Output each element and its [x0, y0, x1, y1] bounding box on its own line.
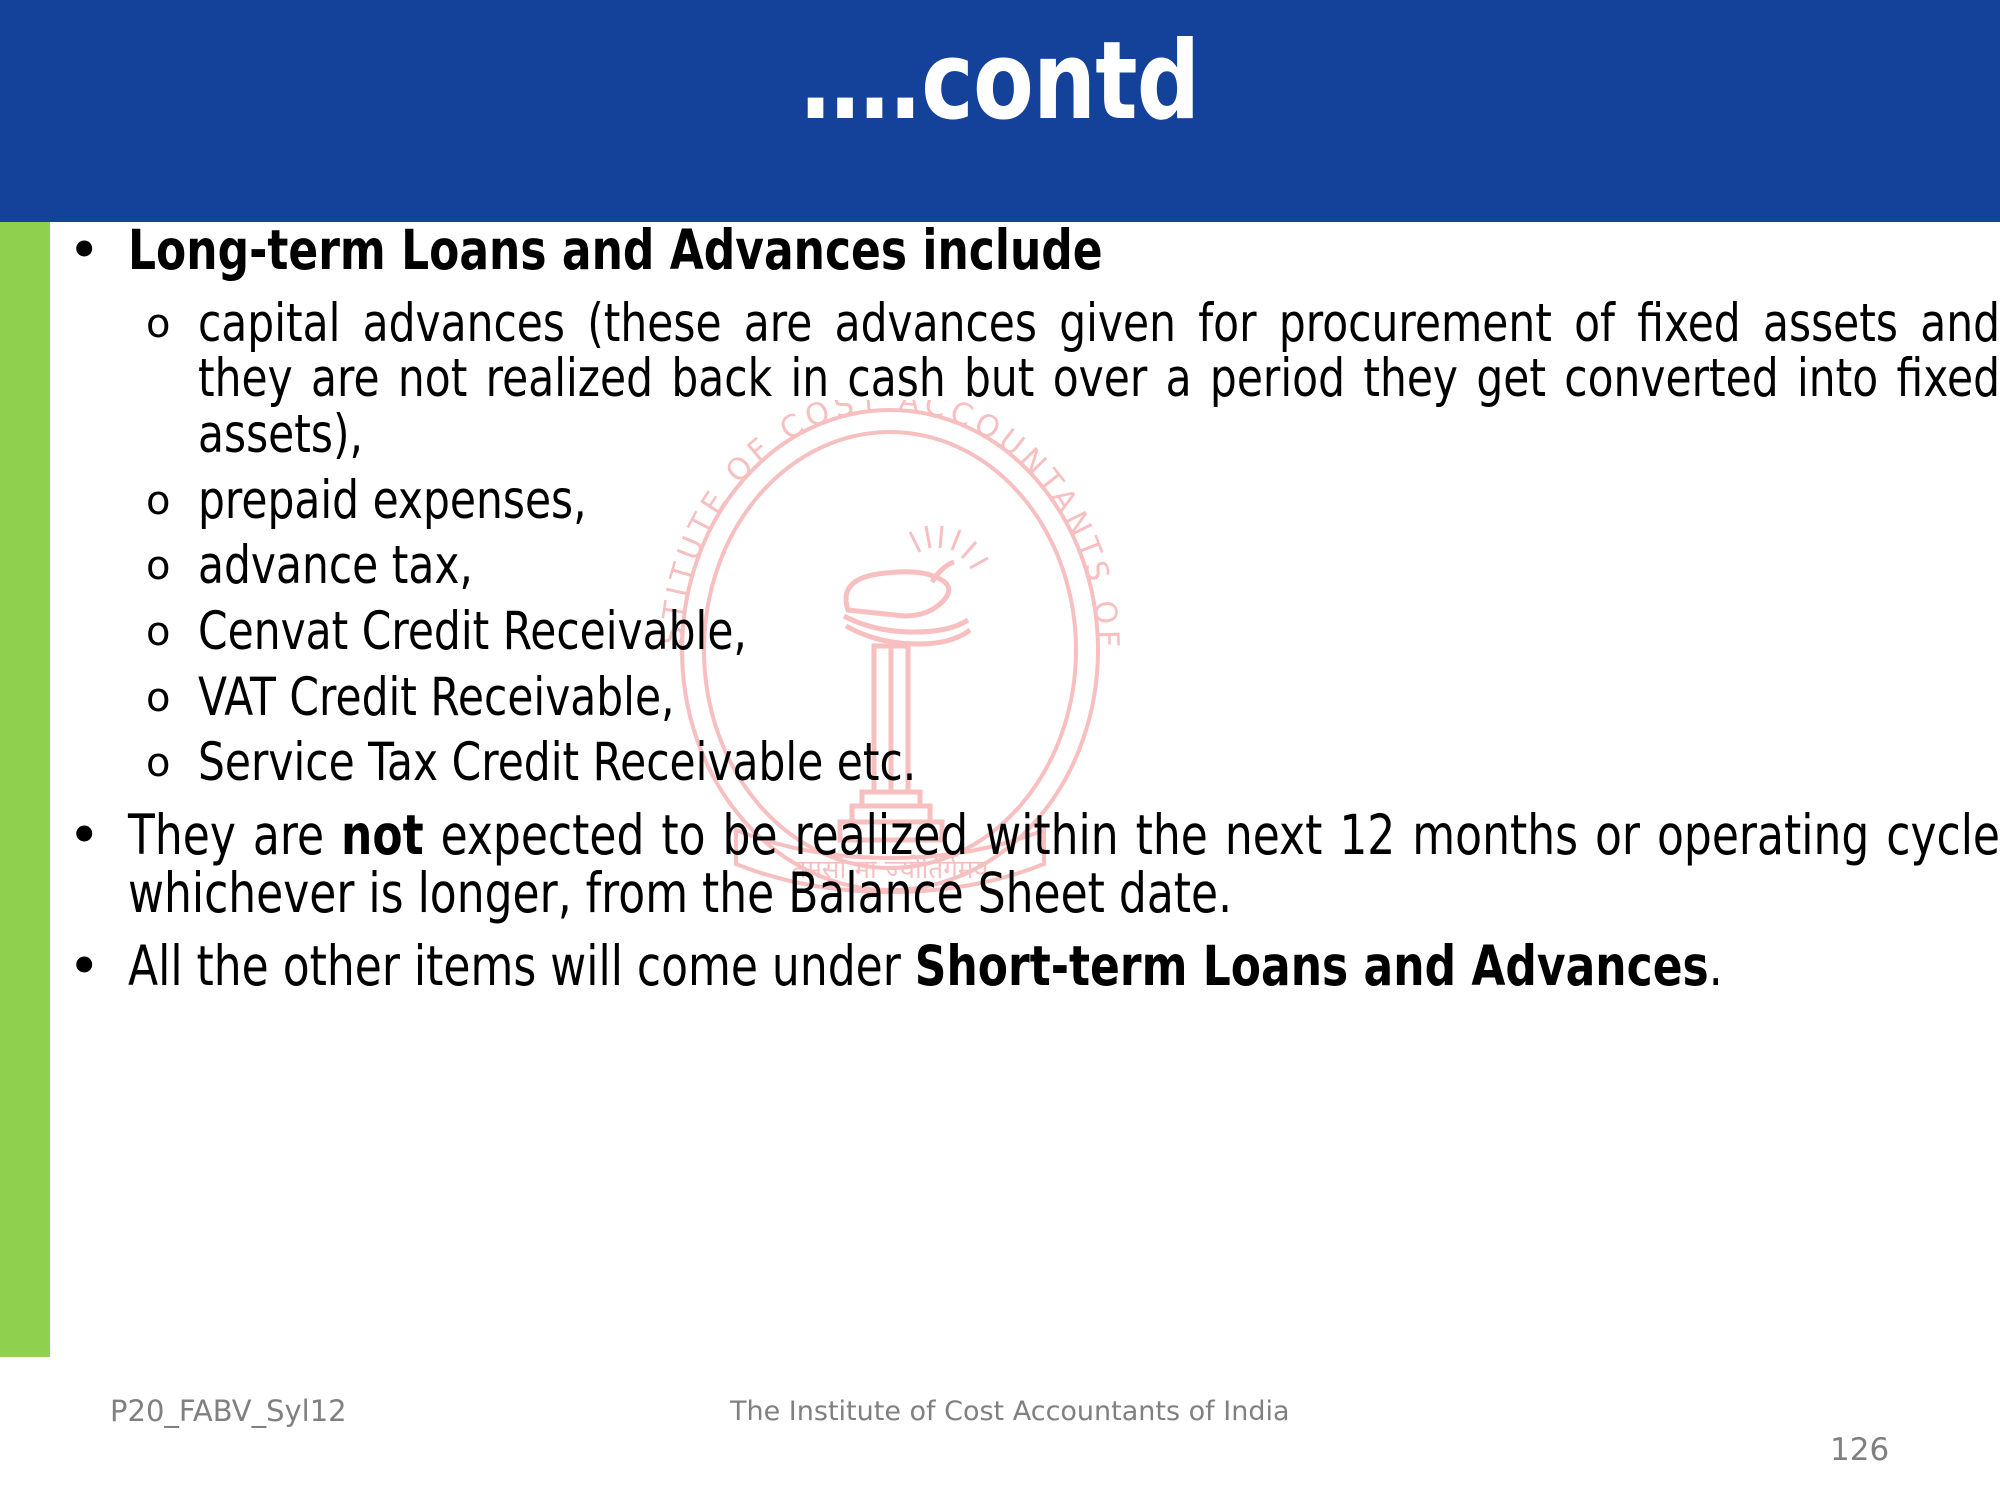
slide-body: • Long-term Loans and Advances include o…	[50, 222, 2000, 1357]
sub-bullet-item-4: o Cenvat Credit Receivable,	[50, 604, 2000, 660]
bullet-item-3: • All the other items will come under Sh…	[50, 938, 2000, 996]
slide: ….contd THE INSTITUTE OF COST ACCOUNTANT…	[0, 0, 2000, 1500]
sub-bullet-marker: o	[146, 737, 170, 789]
left-accent-bar	[0, 222, 50, 1357]
bullet-text-2: They are not expected to be realized wit…	[128, 807, 2000, 923]
sub-bullet-text-3: advance tax,	[198, 538, 2000, 594]
bullet-marker: •	[68, 938, 100, 996]
sub-bullet-marker: o	[146, 606, 170, 658]
sub-bullet-text-1: capital advances (these are advances giv…	[198, 296, 2000, 463]
sub-bullet-marker: o	[146, 672, 170, 724]
bullet-text-1: Long-term Loans and Advances include	[128, 222, 2000, 280]
sub-bullet-text-6: Service Tax Credit Receivable etc.	[198, 735, 2000, 791]
bullet-item-2: • They are not expected to be realized w…	[50, 807, 2000, 923]
bullet-item-1: • Long-term Loans and Advances include	[50, 222, 2000, 280]
sub-bullet-item-3: o advance tax,	[50, 538, 2000, 594]
bullet-3-emphasis: Short-term Loans and Advances	[915, 934, 1709, 998]
sub-bullet-item-1: o capital advances (these are advances g…	[50, 296, 2000, 463]
bullet-2-pre: They are	[128, 803, 341, 867]
bullet-3-post: .	[1709, 934, 1723, 998]
bullet-3-pre: All the other items will come under	[128, 934, 915, 998]
sub-bullet-marker: o	[146, 475, 170, 527]
bullet-2-emphasis: not	[341, 803, 424, 867]
sub-bullet-item-5: o VAT Credit Receivable,	[50, 670, 2000, 726]
sub-bullet-item-2: o prepaid expenses,	[50, 473, 2000, 529]
sub-bullet-text-5: VAT Credit Receivable,	[198, 670, 2000, 726]
bullet-marker: •	[68, 807, 100, 865]
sub-bullet-text-2: prepaid expenses,	[198, 473, 2000, 529]
page-title: ….contd	[801, 28, 1200, 222]
sub-bullet-marker: o	[146, 540, 170, 592]
sub-bullet-item-6: o Service Tax Credit Receivable etc.	[50, 735, 2000, 791]
sub-bullet-marker: o	[146, 298, 170, 350]
footer-page-number: 126	[1830, 1432, 1889, 1468]
bullet-marker: •	[68, 222, 100, 280]
title-banner: ….contd	[0, 0, 2000, 222]
footer-course-code: P20_FABV_Syl12	[110, 1394, 347, 1428]
slide-footer: P20_FABV_Syl12 The Institute of Cost Acc…	[0, 1380, 2000, 1500]
sub-bullet-text-4: Cenvat Credit Receivable,	[198, 604, 2000, 660]
bullet-text-3: All the other items will come under Shor…	[128, 938, 2000, 996]
footer-organization: The Institute of Cost Accountants of Ind…	[730, 1396, 1290, 1427]
